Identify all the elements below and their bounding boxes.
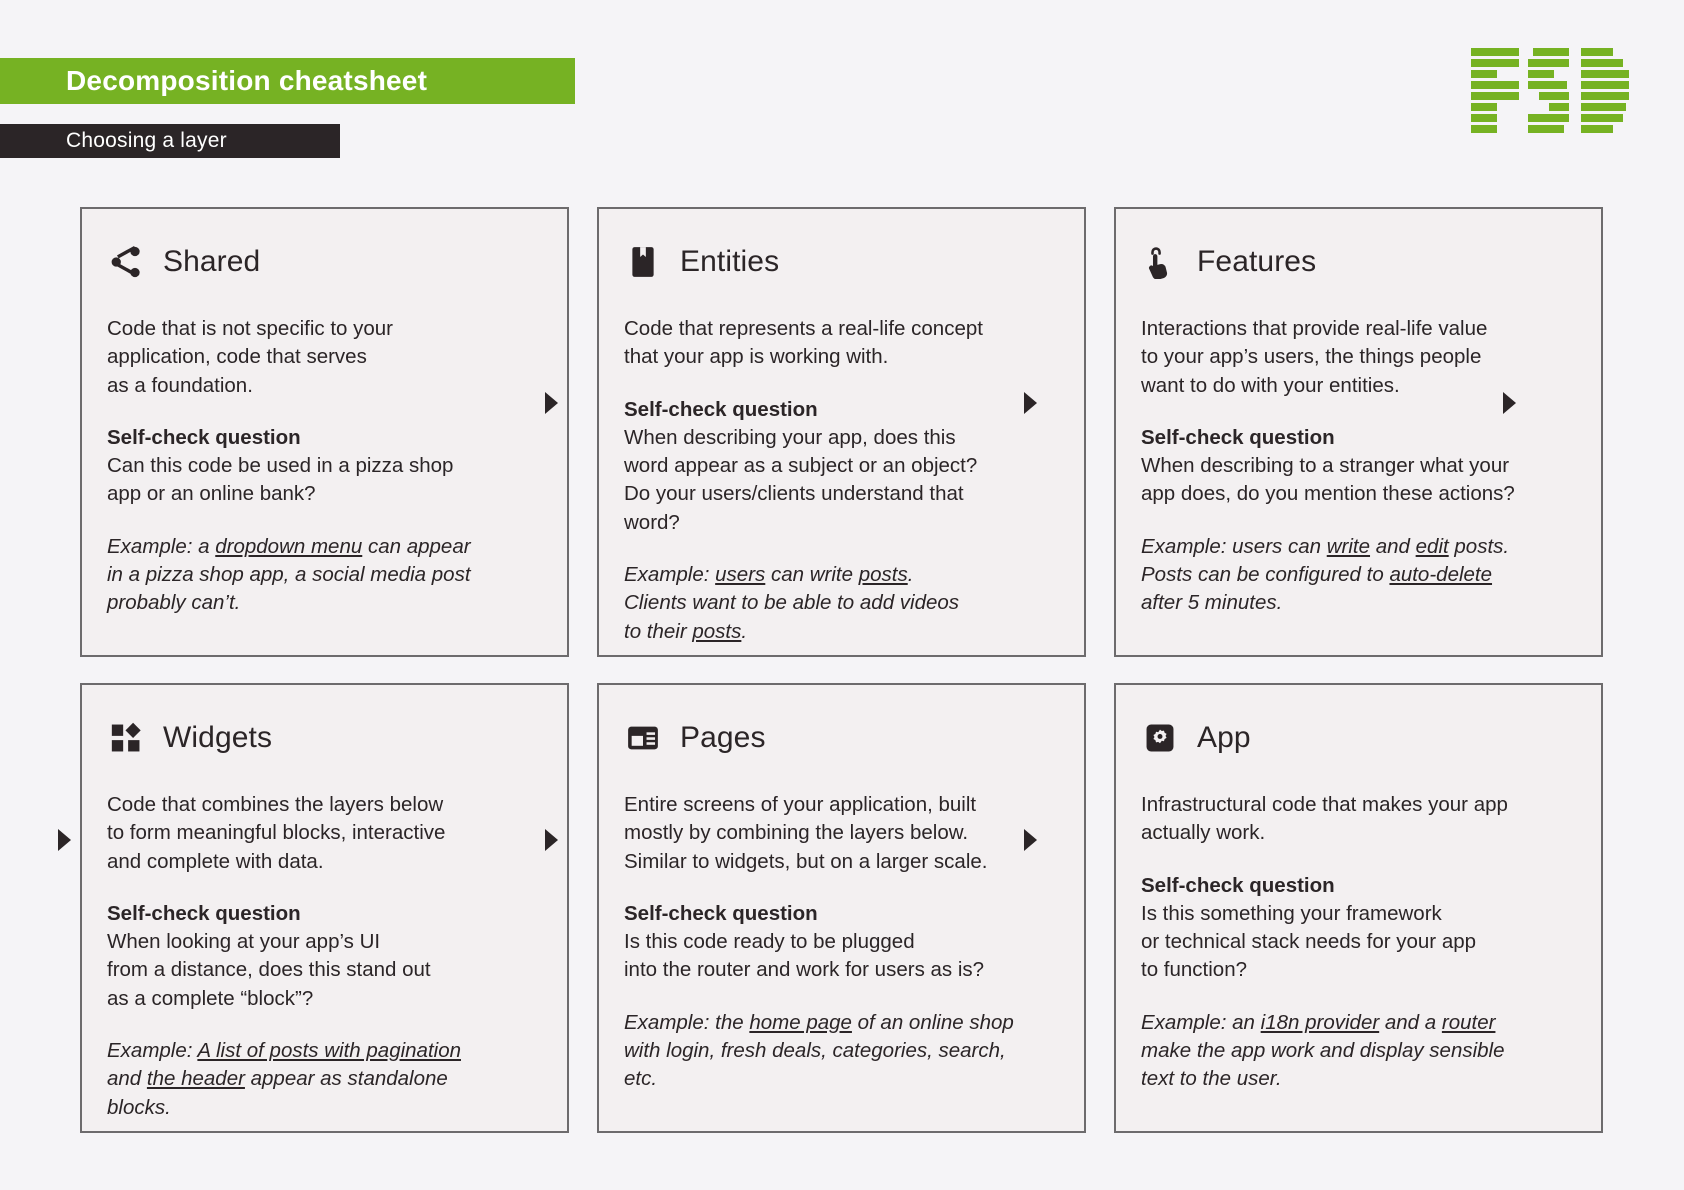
arrow-widgets-to-pages [545, 829, 558, 851]
self-check-question: When describing your app, does this word… [624, 424, 1059, 537]
arrow-entities-to-features [1024, 392, 1037, 414]
card-example: Example: users can write and edit posts.… [1141, 533, 1576, 618]
page-subtitle: Choosing a layer [66, 129, 227, 153]
gear-square-icon [1141, 719, 1179, 757]
card-entities[interactable]: Entities Code that represents a real-lif… [597, 207, 1086, 657]
self-check-question: When describing to a stranger what your … [1141, 452, 1576, 509]
card-description: Code that combines the layers below to f… [107, 791, 542, 876]
bookmark-icon [624, 243, 662, 281]
card-shared[interactable]: Shared Code that is not specific to your… [80, 207, 569, 657]
card-title: Shared [163, 245, 260, 279]
card-example: Example: an i18n provider and a router m… [1141, 1009, 1576, 1094]
card-header: Shared [107, 239, 542, 285]
card-header: Features [1141, 239, 1576, 285]
card-header: App [1141, 715, 1576, 761]
fsd-logo [1471, 48, 1629, 136]
self-check-label: Self-check question [107, 900, 542, 928]
self-check-label: Self-check question [1141, 872, 1576, 900]
card-title: Pages [680, 721, 766, 755]
title-banner: Decomposition cheatsheet [0, 58, 575, 104]
share-icon [107, 243, 145, 281]
widgets-icon [107, 719, 145, 757]
subtitle-banner: Choosing a layer [0, 124, 340, 158]
card-widgets[interactable]: Widgets Code that combines the layers be… [80, 683, 569, 1133]
card-description: Entire screens of your application, buil… [624, 791, 1059, 876]
self-check-label: Self-check question [624, 900, 1059, 928]
card-pages[interactable]: Pages Entire screens of your application… [597, 683, 1086, 1133]
arrow-into-widgets [58, 829, 71, 851]
card-description: Interactions that provide real-life valu… [1141, 315, 1576, 400]
arrow-pages-to-app [1024, 829, 1037, 851]
card-description: Code that represents a real-life concept… [624, 315, 1059, 372]
self-check-question: Can this code be used in a pizza shop ap… [107, 452, 542, 509]
self-check-label: Self-check question [1141, 424, 1576, 452]
page-title: Decomposition cheatsheet [66, 65, 427, 97]
card-header: Entities [624, 239, 1059, 285]
page-header: Decomposition cheatsheet Choosing a laye… [0, 0, 1684, 160]
card-example: Example: users can write posts. Clients … [624, 561, 1059, 646]
card-title: Widgets [163, 721, 272, 755]
card-title: Features [1197, 245, 1316, 279]
card-description: Code that is not specific to your applic… [107, 315, 542, 400]
card-features[interactable]: Features Interactions that provide real-… [1114, 207, 1603, 657]
arrow-shared-to-entities [545, 392, 558, 414]
card-example: Example: the home page of an online shop… [624, 1009, 1059, 1094]
card-header: Pages [624, 715, 1059, 761]
card-header: Widgets [107, 715, 542, 761]
arrow-features-to-widgets [1503, 392, 1516, 414]
card-title: Entities [680, 245, 779, 279]
tap-hand-icon [1141, 243, 1179, 281]
card-app[interactable]: App Infrastructural code that makes your… [1114, 683, 1603, 1133]
self-check-label: Self-check question [624, 396, 1059, 424]
page-layout-icon [624, 719, 662, 757]
self-check-label: Self-check question [107, 424, 542, 452]
layers-grid: Shared Code that is not specific to your… [80, 207, 1610, 1133]
self-check-question: Is this something your framework or tech… [1141, 900, 1576, 985]
card-example: Example: a dropdown menu can appear in a… [107, 533, 542, 618]
card-example: Example: A list of posts with pagination… [107, 1037, 542, 1122]
self-check-question: Is this code ready to be plugged into th… [624, 928, 1059, 985]
card-description: Infrastructural code that makes your app… [1141, 791, 1576, 848]
self-check-question: When looking at your app’s UI from a dis… [107, 928, 542, 1013]
card-title: App [1197, 721, 1251, 755]
